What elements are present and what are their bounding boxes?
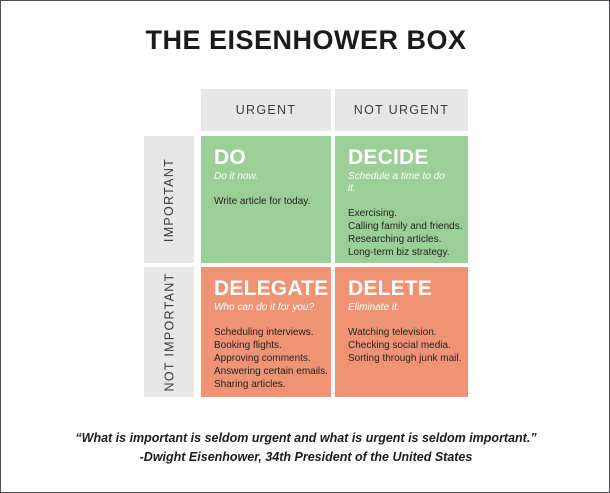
quadrant-do-subtitle: Do it now.: [214, 171, 318, 183]
list-item: Sharing articles.: [214, 378, 318, 391]
column-header-not-urgent-label: NOT URGENT: [354, 103, 449, 117]
quote-attribution: -Dwight Eisenhower, 34th President of th…: [1, 448, 610, 467]
quadrant-delete-subtitle: Eliminate it.: [348, 302, 455, 314]
row-header-not-important: NOT IMPORTANT: [144, 267, 194, 397]
quadrant-do-list: Write article for today.: [214, 195, 318, 208]
row-header-important-label: IMPORTANT: [162, 157, 176, 241]
quadrant-delete: DELETE Eliminate it. Watching television…: [335, 267, 468, 397]
page-title: THE EISENHOWER BOX: [1, 25, 610, 56]
quote-text: “What is important is seldom urgent and …: [1, 429, 610, 448]
quadrant-delegate-subtitle: Who can do it for you?: [214, 302, 318, 314]
list-item: Researching articles.: [348, 233, 455, 246]
eisenhower-matrix: URGENT NOT URGENT IMPORTANT NOT IMPORTAN…: [144, 89, 468, 397]
quadrant-delete-list: Watching television. Checking social med…: [348, 326, 455, 365]
footer-quote-block: “What is important is seldom urgent and …: [1, 429, 610, 467]
list-item: Calling family and friends.: [348, 220, 455, 233]
list-item: Sorting through junk mail.: [348, 352, 455, 365]
list-item: Answering certain emails.: [214, 365, 318, 378]
list-item: Long-term biz strategy.: [348, 246, 455, 259]
quadrant-decide: DECIDE Schedule a time to do it. Exercis…: [335, 136, 468, 263]
quadrant-decide-list: Exercising. Calling family and friends. …: [348, 207, 455, 259]
column-header-urgent-label: URGENT: [236, 103, 297, 117]
list-item: Approving comments.: [214, 352, 318, 365]
quadrant-delegate-heading: DELEGATE: [214, 278, 318, 299]
list-item: Watching television.: [348, 326, 455, 339]
quadrant-do-heading: DO: [214, 147, 318, 168]
row-header-important: IMPORTANT: [144, 136, 194, 263]
list-item: Checking social media.: [348, 339, 455, 352]
quadrant-delete-heading: DELETE: [348, 278, 455, 299]
list-item: Write article for today.: [214, 195, 318, 208]
quadrant-do: DO Do it now. Write article for today.: [201, 136, 331, 263]
list-item: Scheduling interviews.: [214, 326, 318, 339]
row-header-not-important-label: NOT IMPORTANT: [162, 273, 176, 392]
quadrant-delegate: DELEGATE Who can do it for you? Scheduli…: [201, 267, 331, 397]
eisenhower-box-diagram: THE EISENHOWER BOX URGENT NOT URGENT IMP…: [0, 0, 610, 493]
quadrant-decide-heading: DECIDE: [348, 147, 455, 168]
quadrant-decide-subtitle: Schedule a time to do it.: [348, 171, 455, 195]
list-item: Booking flights.: [214, 339, 318, 352]
column-header-urgent: URGENT: [201, 89, 331, 131]
quadrant-delegate-list: Scheduling interviews. Booking flights. …: [214, 326, 318, 391]
column-header-not-urgent: NOT URGENT: [335, 89, 468, 131]
list-item: Exercising.: [348, 207, 455, 220]
